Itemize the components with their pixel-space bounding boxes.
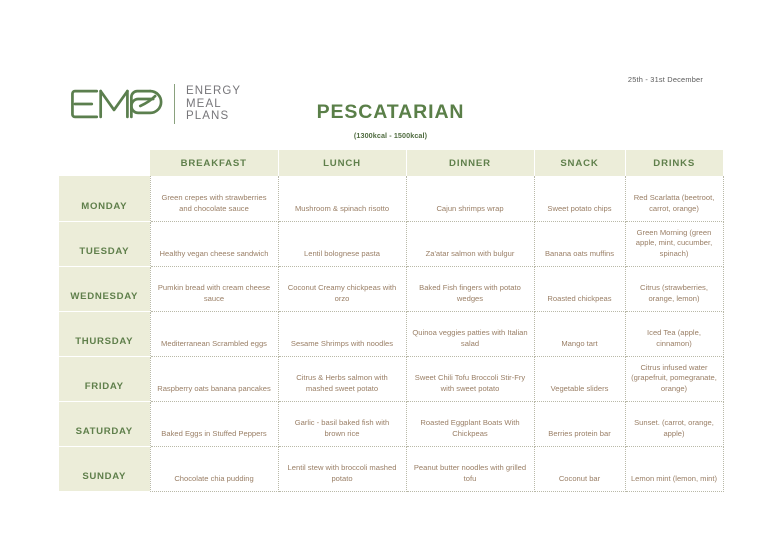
meal-cell-monday-snack: Sweet potato chips <box>534 176 625 221</box>
meal-cell-friday-snack: Vegetable sliders <box>534 356 625 401</box>
meal-text: Quinoa veggies patties with Italian sala… <box>412 328 529 349</box>
page-header: 25th - 31st December ENERGY MEAL PLA <box>0 0 781 150</box>
meal-cell-sunday-snack: Coconut bar <box>534 446 625 491</box>
page-title: PESCATARIAN <box>0 101 781 124</box>
meal-cell-thursday-snack: Mango tart <box>534 311 625 356</box>
logo-word-energy: ENERGY <box>186 85 241 98</box>
meal-cell-sunday-drinks: Lemon mint (lemon, mint) <box>625 446 723 491</box>
day-label-tuesday: TUESDAY <box>59 221 150 266</box>
meal-cell-wednesday-snack: Roasted chickpeas <box>534 266 625 311</box>
meal-cell-friday-dinner: Sweet Chili Tofu Broccoli Stir-Fry with … <box>406 356 534 401</box>
day-label-thursday: THURSDAY <box>59 311 150 356</box>
meal-text: Vegetable sliders <box>540 384 620 395</box>
meal-text: Berries protein bar <box>540 429 620 440</box>
day-label-monday: MONDAY <box>59 176 150 221</box>
table-row: WEDNESDAYPumkin bread with cream cheese … <box>59 266 723 311</box>
meal-text: Mushroom & spinach risotto <box>284 204 401 215</box>
meal-text: Lemon mint (lemon, mint) <box>631 474 718 485</box>
meal-cell-monday-dinner: Cajun shrimps wrap <box>406 176 534 221</box>
meal-text: Green Morning (green apple, mint, cucumb… <box>631 228 718 260</box>
table-row: FRIDAYRaspberry oats banana pancakesCitr… <box>59 356 723 401</box>
day-label-friday: FRIDAY <box>59 356 150 401</box>
meal-cell-wednesday-breakfast: Pumkin bread with cream cheese sauce <box>150 266 278 311</box>
meal-text: Coconut Creamy chickpeas with orzo <box>284 283 401 304</box>
day-label-saturday: SATURDAY <box>59 401 150 446</box>
meal-cell-wednesday-drinks: Citrus (strawberries, orange, lemon) <box>625 266 723 311</box>
meal-cell-monday-breakfast: Green crepes with strawberries and choco… <box>150 176 278 221</box>
meal-text: Green crepes with strawberries and choco… <box>156 193 273 214</box>
meal-text: Baked Fish fingers with potato wedges <box>412 283 529 304</box>
column-header-snack: SNACK <box>534 150 625 176</box>
meal-text: Mango tart <box>540 339 620 350</box>
title-block: PESCATARIAN (1300kcal - 1500kcal) <box>0 101 781 140</box>
meal-cell-tuesday-drinks: Green Morning (green apple, mint, cucumb… <box>625 221 723 266</box>
meal-text: Garlic - basil baked fish with brown ric… <box>284 418 401 439</box>
meal-cell-sunday-breakfast: Chocolate chia pudding <box>150 446 278 491</box>
table-row: THURSDAYMediterranean Scrambled eggsSesa… <box>59 311 723 356</box>
day-label-sunday: SUNDAY <box>59 446 150 491</box>
meal-text: Roasted Eggplant Boats With Chickpeas <box>412 418 529 439</box>
meal-text: Red Scarlatta (beetroot, carrot, orange) <box>631 193 718 214</box>
meal-text: Za'atar salmon with bulgur <box>412 249 529 260</box>
meal-cell-friday-drinks: Citrus infused water (grapefruit, pomegr… <box>625 356 723 401</box>
meal-text: Sunset. (carrot, orange, apple) <box>631 418 718 439</box>
meal-cell-tuesday-snack: Banana oats muffins <box>534 221 625 266</box>
table-header-row: BREAKFAST LUNCH DINNER SNACK DRINKS <box>59 150 723 176</box>
column-header-lunch: LUNCH <box>278 150 406 176</box>
meal-cell-sunday-dinner: Peanut butter noodles with grilled tofu <box>406 446 534 491</box>
meal-cell-tuesday-dinner: Za'atar salmon with bulgur <box>406 221 534 266</box>
meal-cell-friday-lunch: Citrus & Herbs salmon with mashed sweet … <box>278 356 406 401</box>
meal-text: Citrus (strawberries, orange, lemon) <box>631 283 718 304</box>
meal-cell-thursday-drinks: Iced Tea (apple, cinnamon) <box>625 311 723 356</box>
meal-text: Healthy vegan cheese sandwich <box>156 249 273 260</box>
calorie-range-label: (1300kcal - 1500kcal) <box>0 131 781 140</box>
column-header-drinks: DRINKS <box>625 150 723 176</box>
meal-text: Chocolate chia pudding <box>156 474 273 485</box>
meal-text: Mediterranean Scrambled eggs <box>156 339 273 350</box>
table-row: TUESDAYHealthy vegan cheese sandwichLent… <box>59 221 723 266</box>
meal-text: Baked Eggs in Stuffed Peppers <box>156 429 273 440</box>
column-header-dinner: DINNER <box>406 150 534 176</box>
meal-text: Citrus infused water (grapefruit, pomegr… <box>631 363 718 395</box>
meal-cell-saturday-dinner: Roasted Eggplant Boats With Chickpeas <box>406 401 534 446</box>
meal-cell-thursday-breakfast: Mediterranean Scrambled eggs <box>150 311 278 356</box>
meal-cell-saturday-drinks: Sunset. (carrot, orange, apple) <box>625 401 723 446</box>
meal-text: Banana oats muffins <box>540 249 620 260</box>
date-range-label: 25th - 31st December <box>628 75 703 84</box>
meal-plan-table: BREAKFAST LUNCH DINNER SNACK DRINKS MOND… <box>59 150 724 492</box>
day-label-wednesday: WEDNESDAY <box>59 266 150 311</box>
meal-cell-tuesday-lunch: Lentil bolognese pasta <box>278 221 406 266</box>
table-row: MONDAYGreen crepes with strawberries and… <box>59 176 723 221</box>
meal-cell-wednesday-lunch: Coconut Creamy chickpeas with orzo <box>278 266 406 311</box>
meal-text: Iced Tea (apple, cinnamon) <box>631 328 718 349</box>
meal-cell-friday-breakfast: Raspberry oats banana pancakes <box>150 356 278 401</box>
meal-text: Peanut butter noodles with grilled tofu <box>412 463 529 484</box>
meal-cell-thursday-dinner: Quinoa veggies patties with Italian sala… <box>406 311 534 356</box>
meal-cell-wednesday-dinner: Baked Fish fingers with potato wedges <box>406 266 534 311</box>
meal-text: Raspberry oats banana pancakes <box>156 384 273 395</box>
meal-text: Sweet Chili Tofu Broccoli Stir-Fry with … <box>412 373 529 394</box>
meal-text: Roasted chickpeas <box>540 294 620 305</box>
column-header-breakfast: BREAKFAST <box>150 150 278 176</box>
meal-cell-monday-lunch: Mushroom & spinach risotto <box>278 176 406 221</box>
table-corner-cell <box>59 150 150 176</box>
meal-text: Sweet potato chips <box>540 204 620 215</box>
meal-cell-thursday-lunch: Sesame Shrimps with noodles <box>278 311 406 356</box>
meal-cell-sunday-lunch: Lentil stew with broccoli mashed potato <box>278 446 406 491</box>
meal-text: Coconut bar <box>540 474 620 485</box>
meal-cell-saturday-lunch: Garlic - basil baked fish with brown ric… <box>278 401 406 446</box>
meal-text: Lentil stew with broccoli mashed potato <box>284 463 401 484</box>
meal-text: Citrus & Herbs salmon with mashed sweet … <box>284 373 401 394</box>
meal-text: Cajun shrimps wrap <box>412 204 529 215</box>
meal-text: Sesame Shrimps with noodles <box>284 339 401 350</box>
meal-cell-tuesday-breakfast: Healthy vegan cheese sandwich <box>150 221 278 266</box>
meal-text: Pumkin bread with cream cheese sauce <box>156 283 273 304</box>
table-row: SATURDAYBaked Eggs in Stuffed PeppersGar… <box>59 401 723 446</box>
meal-cell-saturday-breakfast: Baked Eggs in Stuffed Peppers <box>150 401 278 446</box>
meal-text: Lentil bolognese pasta <box>284 249 401 260</box>
meal-cell-saturday-snack: Berries protein bar <box>534 401 625 446</box>
meal-cell-monday-drinks: Red Scarlatta (beetroot, carrot, orange) <box>625 176 723 221</box>
table-row: SUNDAYChocolate chia puddingLentil stew … <box>59 446 723 491</box>
